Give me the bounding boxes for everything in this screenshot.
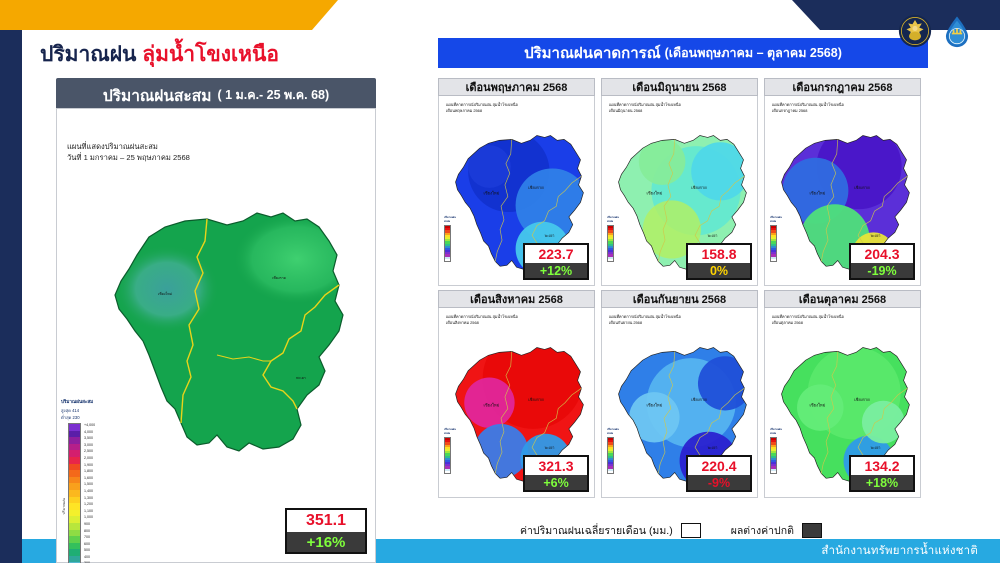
onwr-waterdrop-logo-icon: [940, 14, 974, 48]
forecast-bottom-legend: ค่าปริมาณฝนเฉลี่ยรายเดือน (มม.) ผลต่างค่…: [520, 522, 822, 539]
forecast-map-caption-line1: แผนที่คาดการณ์ปริมาณฝน ลุ่มน้ำโขงเหนือ: [609, 314, 681, 320]
forecast-grid-row: เดือนสิงหาคม 2568 แผนที่คาดการณ์ปริมาณฝน…: [438, 290, 960, 498]
forecast-map-caption-line1: แผนที่คาดการณ์ปริมาณฝน ลุ่มน้ำโขงเหนือ: [772, 102, 844, 108]
forecast-banner: ปริมาณฝนคาดการณ์ (เดือนพฤษภาคม – ตุลาคม …: [438, 38, 928, 68]
forecast-map-caption-line1: แผนที่คาดการณ์ปริมาณฝน ลุ่มน้ำโขงเหนือ: [772, 314, 844, 320]
forecast-month-grid: เดือนพฤษภาคม 2568 แผนที่คาดการณ์ปริมาณฝน…: [438, 78, 960, 502]
forecast-month-body: แผนที่คาดการณ์ปริมาณฝน ลุ่มน้ำโขงเหนือ เ…: [438, 308, 595, 498]
legend-max-label: สูงสุด: [61, 408, 71, 413]
forecast-value-box: 134.2 +18%: [849, 455, 915, 492]
mini-legend: ปริมาณฝนสะสม: [607, 428, 623, 474]
forecast-month-body: แผนที่คาดการณ์ปริมาณฝน ลุ่มน้ำโขงเหนือ เ…: [764, 96, 921, 286]
mini-legend-ramp: [607, 225, 614, 262]
forecast-month-header: เดือนพฤษภาคม 2568: [438, 78, 595, 96]
legend-ramp-tick: 1,900: [84, 463, 93, 467]
mini-legend-title: ปริมาณฝนสะสม: [444, 216, 460, 224]
mini-legend-title: ปริมาณฝนสะสม: [607, 216, 623, 224]
legend-ramp-tick: 1,400: [84, 489, 93, 493]
mini-legend-title: ปริมาณฝนสะสม: [770, 216, 786, 224]
legend-ramp-cell: 2,000: [69, 457, 80, 464]
legend-max-stat: สูงสุด 414: [61, 407, 113, 414]
mini-legend-ramp: [444, 437, 451, 474]
garuda-emblem-icon: [898, 14, 932, 48]
legend-ramp-tick: 1,500: [84, 482, 93, 486]
forecast-month-header: เดือนกรกฎาคม 2568: [764, 78, 921, 96]
legend-axis-label: ปริมาณฝน: [61, 498, 67, 515]
forecast-value-box: 158.8 0%: [686, 243, 752, 280]
logo-group: [898, 14, 974, 48]
mini-province-label-phayao: พะเยา: [708, 234, 718, 238]
forecast-anomaly: -19%: [851, 263, 913, 278]
forecast-value-box: 204.3 -19%: [849, 243, 915, 280]
legend-ramp-tick: 700: [84, 535, 90, 539]
legend-ramp-cell: 4,000: [69, 431, 80, 438]
mini-province-label-chiangrai: เชียงราย: [691, 397, 707, 402]
legend-ramp-tick: 1,800: [84, 469, 93, 473]
mini-province-label-chiangmai: เชียงใหม่: [646, 402, 662, 408]
mini-legend-ramp: [607, 437, 614, 474]
mini-legend-cell: [608, 259, 613, 261]
accumulated-subtitle-bar: ปริมาณฝนสะสม ( 1 ม.ค.- 25 พ.ค. 68): [56, 78, 376, 112]
legend-diff-label: ผลต่างค่าปกติ: [731, 522, 794, 539]
legend-ramp-cell: 600: [69, 543, 80, 550]
forecast-month-body: แผนที่คาดการณ์ปริมาณฝน ลุ่มน้ำโขงเหนือ เ…: [438, 96, 595, 286]
province-label-chiangmai: เชียงใหม่: [158, 291, 173, 296]
mini-province-label-chiangrai: เชียงราย: [528, 185, 544, 190]
mini-legend: ปริมาณฝนสะสม: [770, 216, 786, 262]
page-title-main: ปริมาณฝน: [40, 43, 136, 66]
legend-ramp-tick: 600: [84, 542, 90, 546]
forecast-month-body: แผนที่คาดการณ์ปริมาณฝน ลุ่มน้ำโขงเหนือ เ…: [601, 308, 758, 498]
legend-ramp-cell: 400: [69, 556, 80, 563]
accumulated-anomaly: +16%: [287, 532, 365, 552]
legend-min-label: ต่ำสุด: [61, 415, 71, 420]
mini-legend-ramp: [770, 437, 777, 474]
mini-legend-title: ปริมาณฝนสะสม: [607, 428, 623, 436]
forecast-value: 220.4: [688, 457, 750, 475]
legend-ramp-cell: 1,200: [69, 503, 80, 510]
mini-legend-cell: [445, 259, 450, 261]
legend-ramp-tick: 900: [84, 522, 90, 526]
mini-province-label-chiangrai: เชียงราย: [528, 397, 544, 402]
top-left-yellow-corner: [0, 0, 22, 30]
footer-organization-label: สำนักงานทรัพยากรน้ำแห่งชาติ: [821, 542, 978, 560]
legend-ramp-cell: 2,500: [69, 450, 80, 457]
top-left-yellow-wedge: [0, 0, 312, 30]
legend-ramp-cell: 1,300: [69, 497, 80, 504]
mini-legend-cell: [608, 471, 613, 473]
legend-ramp-cell: 1,800: [69, 470, 80, 477]
legend-ramp-cell: 1,100: [69, 510, 80, 517]
forecast-month-body: แผนที่คาดการณ์ปริมาณฝน ลุ่มน้ำโขงเหนือ เ…: [764, 308, 921, 498]
forecast-anomaly: -9%: [688, 475, 750, 490]
slide-root: สำนักงานทรัพยากรน้ำแห่งชาติ ปริมาณฝน ลุ่…: [0, 0, 1000, 563]
province-label-phayao: พะเยา: [296, 376, 306, 380]
accumulated-rainfall-section: ปริมาณฝน ลุ่มน้ำโขงเหนือ ปริมาณฝนสะสม ( …: [28, 30, 388, 535]
forecast-value: 134.2: [851, 457, 913, 475]
legend-ramp-cell: 3,000: [69, 444, 80, 451]
legend-ramp-cell: 1,900: [69, 464, 80, 471]
mini-province-label-chiangrai: เชียงราย: [854, 185, 870, 190]
legend-max-value: 414: [72, 408, 79, 413]
left-edge-decoration: [0, 0, 22, 563]
forecast-grid-row: เดือนพฤษภาคม 2568 แผนที่คาดการณ์ปริมาณฝน…: [438, 78, 960, 286]
forecast-value: 158.8: [688, 245, 750, 263]
legend-ramp-cell: 1,500: [69, 483, 80, 490]
legend-ramp-tick: 500: [84, 548, 90, 552]
forecast-value-box: 223.7 +12%: [523, 243, 589, 280]
legend-ramp-cell: 500: [69, 549, 80, 556]
legend-ramp-tick: 4,000: [84, 430, 93, 434]
legend-ramp-cell: 800: [69, 530, 80, 537]
accumulated-subtitle-label: ปริมาณฝนสะสม: [103, 83, 212, 108]
forecast-value-box: 321.3 +6%: [523, 455, 589, 492]
forecast-anomaly: +12%: [525, 263, 587, 278]
mini-province-label-chiangmai: เชียงใหม่: [809, 190, 825, 196]
mini-legend: ปริมาณฝนสะสม: [444, 216, 460, 262]
forecast-map-caption-line1: แผนที่คาดการณ์ปริมาณฝน ลุ่มน้ำโขงเหนือ: [446, 314, 518, 320]
legend-color-ramp: +4,0004,0003,5003,0002,5002,0001,9001,80…: [68, 423, 81, 563]
forecast-anomaly: +6%: [525, 475, 587, 490]
forecast-banner-range: (เดือนพฤษภาคม – ตุลาคม 2568): [665, 43, 842, 63]
legend-ramp-tick: 800: [84, 529, 90, 533]
forecast-value: 204.3: [851, 245, 913, 263]
province-label-chiangrai: เชียงราย: [272, 275, 286, 280]
forecast-month-panel[interactable]: เดือนกรกฎาคม 2568 แผนที่คาดการณ์ปริมาณฝน…: [764, 78, 921, 286]
legend-title: ปริมาณฝนสะสม: [61, 399, 113, 406]
legend-ramp-cell: +4,000: [69, 424, 80, 431]
legend-ramp-tick: +4,000: [84, 423, 95, 427]
forecast-month-header: เดือนกันยายน 2568: [601, 290, 758, 308]
legend-ramp-tick: 1,000: [84, 515, 93, 519]
mini-legend: ปริมาณฝนสะสม: [607, 216, 623, 262]
mini-province-label-chiangmai: เชียงใหม่: [646, 190, 662, 196]
legend-ramp-cell: 3,500: [69, 437, 80, 444]
legend-ramp-cell: 900: [69, 523, 80, 530]
mini-legend: ปริมาณฝนสะสม: [770, 428, 786, 474]
forecast-month-panel[interactable]: เดือนกันยายน 2568 แผนที่คาดการณ์ปริมาณฝน…: [601, 290, 758, 498]
mini-legend-cell: [771, 259, 776, 261]
mini-legend-title: ปริมาณฝนสะสม: [770, 428, 786, 436]
forecast-value: 223.7: [525, 245, 587, 263]
legend-min-stat: ต่ำสุด 230: [61, 414, 113, 421]
accumulated-map-legend: ปริมาณฝนสะสม สูงสุด 414 ต่ำสุด 230 ปริมา…: [61, 399, 113, 563]
accumulated-rainfall-map-card: แผนที่แสดงปริมาณฝนสะสม วันที่ 1 มกราคม –…: [56, 108, 376, 563]
legend-ramp-tick: 400: [84, 555, 90, 559]
forecast-anomaly: 0%: [688, 263, 750, 278]
mini-province-label-chiangmai: เชียงใหม่: [809, 402, 825, 408]
legend-min-value: 230: [73, 415, 80, 420]
legend-ramp-tick: 1,200: [84, 502, 93, 506]
legend-avg-swatch: [681, 523, 701, 538]
forecast-month-header: เดือนตุลาคม 2568: [764, 290, 921, 308]
mini-legend-cell: [771, 471, 776, 473]
mini-province-label-phayao: พะเยา: [871, 446, 881, 450]
mini-province-label-chiangmai: เชียงใหม่: [483, 190, 499, 196]
legend-ramp-tick: 1,300: [84, 496, 93, 500]
mini-legend-ramp: [444, 225, 451, 262]
mini-province-label-phayao: พะเยา: [545, 234, 555, 238]
page-title: ปริมาณฝน ลุ่มน้ำโขงเหนือ: [40, 38, 279, 71]
legend-ramp-cell: 1,000: [69, 516, 80, 523]
forecast-section: ปริมาณฝนคาดการณ์ (เดือนพฤษภาคม – ตุลาคม …: [420, 30, 980, 535]
forecast-month-panel[interactable]: เดือนมิถุนายน 2568 แผนที่คาดการณ์ปริมาณฝ…: [601, 78, 758, 286]
mini-province-label-chiangrai: เชียงราย: [691, 185, 707, 190]
legend-ramp-tick: 2,000: [84, 456, 93, 460]
forecast-anomaly: +18%: [851, 475, 913, 490]
legend-ramp-tick: 1,100: [84, 509, 93, 513]
legend-ramp-cell: 1,600: [69, 477, 80, 484]
legend-ramp-tick: 3,500: [84, 436, 93, 440]
legend-ramp-tick: 2,500: [84, 449, 93, 453]
forecast-month-header: เดือนสิงหาคม 2568: [438, 290, 595, 308]
forecast-month-panel[interactable]: เดือนสิงหาคม 2568 แผนที่คาดการณ์ปริมาณฝน…: [438, 290, 595, 498]
accumulated-value: 351.1: [287, 510, 365, 532]
legend-avg-label: ค่าปริมาณฝนเฉลี่ยรายเดือน (มม.): [520, 522, 673, 539]
forecast-month-body: แผนที่คาดการณ์ปริมาณฝน ลุ่มน้ำโขงเหนือ เ…: [601, 96, 758, 286]
legend-diff-swatch: [802, 523, 822, 538]
forecast-month-header: เดือนมิถุนายน 2568: [601, 78, 758, 96]
mini-province-label-phayao: พะเยา: [871, 234, 881, 238]
mini-province-label-phayao: พะเยา: [708, 446, 718, 450]
accumulated-value-box: 351.1 +16%: [285, 508, 367, 554]
forecast-value-box: 220.4 -9%: [686, 455, 752, 492]
legend-ramp-cell: 1,400: [69, 490, 80, 497]
mini-province-label-phayao: พะเยา: [545, 446, 555, 450]
forecast-month-panel[interactable]: เดือนตุลาคม 2568 แผนที่คาดการณ์ปริมาณฝน …: [764, 290, 921, 498]
forecast-value: 321.3: [525, 457, 587, 475]
legend-ramp-tick: 3,000: [84, 443, 93, 447]
mini-legend: ปริมาณฝนสะสม: [444, 428, 460, 474]
forecast-month-panel[interactable]: เดือนพฤษภาคม 2568 แผนที่คาดการณ์ปริมาณฝน…: [438, 78, 595, 286]
mini-province-label-chiangrai: เชียงราย: [854, 397, 870, 402]
mini-legend-title: ปริมาณฝนสะสม: [444, 428, 460, 436]
page-title-accent: ลุ่มน้ำโขงเหนือ: [142, 43, 279, 66]
legend-ramp-tick: 1,600: [84, 476, 93, 480]
forecast-map-caption-line1: แผนที่คาดการณ์ปริมาณฝน ลุ่มน้ำโขงเหนือ: [609, 102, 681, 108]
forecast-banner-title: ปริมาณฝนคาดการณ์: [524, 41, 661, 65]
mini-legend-cell: [445, 471, 450, 473]
accumulated-date-range: ( 1 ม.ค.- 25 พ.ค. 68): [217, 85, 329, 105]
legend-ramp-cell: 700: [69, 536, 80, 543]
forecast-map-caption-line1: แผนที่คาดการณ์ปริมาณฝน ลุ่มน้ำโขงเหนือ: [446, 102, 518, 108]
mini-province-label-chiangmai: เชียงใหม่: [483, 402, 499, 408]
mini-legend-ramp: [770, 225, 777, 262]
